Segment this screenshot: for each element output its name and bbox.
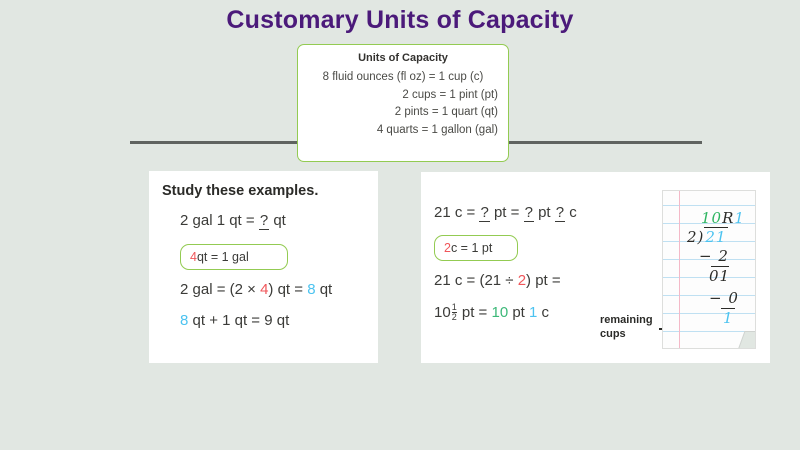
left-fact-text: qt = 1 gal bbox=[197, 250, 249, 264]
right-fact-value: 2 bbox=[444, 241, 451, 255]
right-eq3-mid2: pt bbox=[508, 304, 529, 321]
units-row: 2 pints = 1 quart (qt) bbox=[308, 106, 498, 118]
units-of-capacity-card: Units of Capacity 8 fluid ounces (fl oz)… bbox=[297, 44, 509, 162]
units-row: 4 quarts = 1 gallon (gal) bbox=[308, 124, 498, 136]
right-eq1-post: c bbox=[565, 204, 577, 221]
left-equation-line-1: 2 gal 1 qt = ? qt bbox=[180, 212, 286, 230]
notebook-paper: 10R1 2)21 − 2 01 − 0 1 bbox=[662, 190, 756, 349]
right-eq1-mid2: pt bbox=[534, 204, 555, 221]
right-eq3-mid: pt = bbox=[458, 304, 492, 321]
left-equation-line-3: 8 qt + 1 qt = 9 qt bbox=[180, 312, 289, 329]
left-eq2-post: qt bbox=[316, 281, 333, 298]
right-example-panel: 21 c = ? pt = ? pt ? c 2 c = 1 pt 21 c =… bbox=[421, 172, 770, 363]
right-eq3-whole: 10 bbox=[434, 304, 451, 321]
answer-blank: ? bbox=[479, 205, 489, 222]
notebook-margin-line bbox=[679, 191, 680, 348]
study-these-examples-heading: Study these examples. bbox=[162, 183, 318, 199]
units-card-heading: Units of Capacity bbox=[308, 52, 498, 64]
right-eq1-pre: 21 c = bbox=[434, 204, 479, 221]
division-bracket-row: 2)21 bbox=[687, 227, 728, 246]
right-eq2-post: ) pt = bbox=[526, 272, 561, 289]
left-eq2-mid: ) qt = bbox=[268, 281, 307, 298]
division-step-subtract-1: − 2 bbox=[699, 247, 729, 265]
division-quotient: 10R1 bbox=[701, 209, 745, 227]
right-equation-line-3: 1012 pt = 10 pt 1 c bbox=[434, 303, 549, 322]
page-title: Customary Units of Capacity bbox=[0, 6, 800, 35]
notebook-corner-fold bbox=[738, 331, 756, 349]
division-final-remainder: 1 bbox=[723, 309, 734, 327]
mixed-number-fraction: 12 bbox=[452, 303, 457, 322]
right-fact-text: c = 1 pt bbox=[451, 241, 492, 255]
right-equation-line-1: 21 c = ? pt = ? pt ? c bbox=[434, 204, 577, 222]
units-row: 2 cups = 1 pint (pt) bbox=[308, 89, 498, 101]
units-row: 8 fluid ounces (fl oz) = 1 cup (c) bbox=[308, 71, 498, 83]
left-fact-value: 4 bbox=[190, 250, 197, 264]
left-eq3-text: qt + 1 qt = 9 qt bbox=[188, 312, 289, 329]
left-example-panel: Study these examples. 2 gal 1 qt = ? qt … bbox=[149, 171, 378, 363]
quotient-value: 10 bbox=[701, 209, 722, 227]
answer-blank: ? bbox=[524, 205, 534, 222]
remainder-value: 1 bbox=[734, 209, 745, 227]
division-step-difference-1: 01 bbox=[709, 267, 730, 285]
right-eq2-pre: 21 c = (21 ÷ bbox=[434, 272, 518, 289]
right-equation-line-2: 21 c = (21 ÷ 2) pt = bbox=[434, 272, 561, 289]
dividend-value: 21 bbox=[704, 227, 727, 246]
remaining-cups-label: remaining cups bbox=[600, 314, 653, 342]
answer-blank: ? bbox=[555, 205, 565, 222]
left-conversion-fact-box: 4 qt = 1 gal bbox=[180, 244, 288, 270]
right-eq2-red: 2 bbox=[518, 272, 526, 289]
right-eq1-mid1: pt = bbox=[490, 204, 524, 221]
right-eq3-post: c bbox=[537, 304, 549, 321]
left-equation-line-2: 2 gal = (2 × 4) qt = 8 qt bbox=[180, 281, 332, 298]
remainder-letter: R bbox=[722, 209, 734, 227]
right-eq3-green: 10 bbox=[491, 304, 508, 321]
left-eq2-pre: 2 gal = (2 × bbox=[180, 281, 260, 298]
divisor-value: 2 bbox=[687, 228, 698, 246]
left-eq2-cyan: 8 bbox=[307, 281, 315, 298]
slide-root: Customary Units of Capacity Units of Cap… bbox=[0, 0, 800, 450]
division-remainder-value: 1 bbox=[723, 309, 734, 327]
answer-blank: ? bbox=[259, 213, 269, 230]
fraction-denominator: 2 bbox=[452, 312, 457, 322]
left-eq1-post: qt bbox=[269, 212, 286, 229]
division-step-subtract-2: − 0 bbox=[709, 289, 739, 307]
right-conversion-fact-box: 2 c = 1 pt bbox=[434, 235, 518, 261]
division-bracket-icon: ) bbox=[698, 228, 705, 246]
left-eq1-pre: 2 gal 1 qt = bbox=[180, 212, 259, 229]
fraction-numerator: 1 bbox=[452, 303, 457, 312]
